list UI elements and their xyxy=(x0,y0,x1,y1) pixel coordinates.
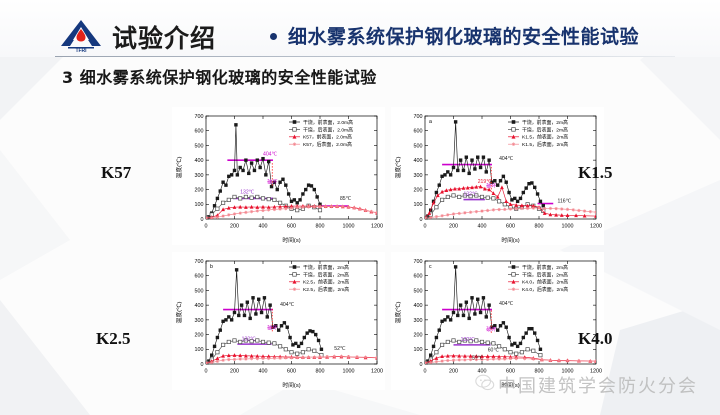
data-marker xyxy=(284,207,287,210)
data-marker xyxy=(435,351,438,354)
tfri-flame-logo-icon: TFRI xyxy=(58,18,104,52)
data-marker xyxy=(301,351,304,354)
data-marker xyxy=(293,142,297,146)
data-marker xyxy=(459,303,462,306)
data-marker xyxy=(502,175,505,178)
data-marker xyxy=(492,197,495,200)
data-marker xyxy=(456,314,459,317)
y-tick-label: 600 xyxy=(195,274,204,280)
data-marker xyxy=(261,340,264,343)
data-marker xyxy=(462,314,465,317)
data-marker xyxy=(233,358,236,361)
data-marker xyxy=(261,197,264,200)
data-marker xyxy=(512,273,516,277)
data-marker xyxy=(310,184,313,187)
data-marker xyxy=(263,296,266,299)
legend-label: K4.0，后表面，2m高 xyxy=(522,286,568,293)
data-marker xyxy=(540,358,543,361)
data-marker xyxy=(486,209,489,212)
data-marker xyxy=(473,312,476,315)
data-marker xyxy=(432,345,435,348)
data-marker xyxy=(522,191,525,194)
data-marker xyxy=(273,342,276,345)
data-marker xyxy=(297,345,300,348)
legend-label: K2.5，前表面，2m高 xyxy=(303,279,349,286)
chart-annotation: 破坏 xyxy=(267,324,277,331)
y-axis-label: 温度(℃) xyxy=(175,301,183,323)
data-marker xyxy=(509,357,512,360)
legend-label: 干烧，后表面，2.0m高 xyxy=(303,126,353,133)
data-marker xyxy=(244,195,247,198)
data-marker xyxy=(519,197,522,200)
data-marker xyxy=(239,357,242,360)
data-marker xyxy=(507,336,510,339)
data-marker xyxy=(288,336,291,339)
data-marker xyxy=(278,356,281,359)
data-marker xyxy=(526,207,529,210)
data-marker xyxy=(341,205,344,208)
data-marker xyxy=(549,359,552,362)
data-marker xyxy=(287,192,290,195)
data-marker xyxy=(286,326,289,329)
data-marker xyxy=(267,341,270,344)
data-marker xyxy=(505,326,508,329)
data-marker xyxy=(524,331,527,334)
data-marker xyxy=(340,355,343,358)
y-tick-label: 600 xyxy=(195,129,204,135)
x-tick-label: 200 xyxy=(449,224,458,230)
data-marker xyxy=(241,169,244,172)
chart-annotation: 132℃ xyxy=(461,337,475,343)
data-marker xyxy=(435,191,438,194)
data-marker xyxy=(296,206,299,209)
data-marker xyxy=(524,186,527,189)
data-marker xyxy=(278,181,281,184)
y-tick-label: 0 xyxy=(420,217,423,223)
data-marker xyxy=(486,341,489,344)
data-marker xyxy=(476,298,479,301)
y-tick-label: 300 xyxy=(195,318,204,324)
legend-label: K1.5，前表面，2m高 xyxy=(522,134,568,141)
data-marker xyxy=(480,340,483,343)
data-marker xyxy=(435,336,438,339)
data-marker xyxy=(533,186,536,189)
data-marker xyxy=(294,342,297,345)
data-marker xyxy=(539,353,542,356)
data-marker xyxy=(313,356,316,359)
x-tick-label: 800 xyxy=(535,224,544,230)
data-marker xyxy=(446,195,449,198)
data-marker xyxy=(497,200,500,203)
chart-annotation: 52℃ xyxy=(334,346,346,352)
data-marker xyxy=(301,356,304,359)
data-marker xyxy=(526,348,529,351)
chart-svg: 0200400600800100012000100200300400500600… xyxy=(172,107,385,245)
x-tick-label: 0 xyxy=(424,224,427,230)
chart-annotation: 132℃ xyxy=(463,191,477,197)
data-marker xyxy=(324,205,327,208)
data-marker xyxy=(325,355,328,358)
legend-label: 干烧，后表面，2m高 xyxy=(303,271,349,278)
legend-label: K57，后表面，2.0m高 xyxy=(303,141,352,148)
y-axis-label: 温度(℃) xyxy=(175,156,183,178)
data-marker xyxy=(452,194,455,197)
data-marker xyxy=(277,328,280,331)
data-marker xyxy=(443,173,446,176)
data-marker xyxy=(313,205,316,208)
data-marker xyxy=(512,128,516,132)
x-tick-label: 600 xyxy=(506,224,515,230)
data-marker xyxy=(507,191,510,194)
data-marker xyxy=(284,348,287,351)
data-marker xyxy=(473,167,476,170)
data-marker xyxy=(267,197,270,200)
x-tick-label: 200 xyxy=(230,224,239,230)
data-marker xyxy=(429,216,432,219)
y-tick-label: 400 xyxy=(414,158,423,164)
chart-annotation: 404℃ xyxy=(263,152,277,158)
x-axis-label: 时间(s) xyxy=(282,236,300,244)
data-marker xyxy=(497,357,500,360)
data-marker xyxy=(462,169,465,172)
y-tick-label: 300 xyxy=(414,318,423,324)
legend-label: 干烧，前表面，2m高 xyxy=(522,119,568,126)
x-tick-label: 0 xyxy=(205,224,208,230)
data-marker xyxy=(446,315,449,318)
y-tick-label: 0 xyxy=(201,362,204,368)
y-tick-label: 100 xyxy=(414,202,423,208)
data-marker xyxy=(284,183,287,186)
data-marker xyxy=(449,173,452,176)
data-marker xyxy=(532,349,535,352)
data-marker xyxy=(492,342,495,345)
data-marker xyxy=(440,359,443,362)
data-marker xyxy=(440,198,443,201)
data-marker xyxy=(280,324,283,327)
chart-svg: 0200400600800100012000100200300400500600… xyxy=(172,252,385,390)
data-marker xyxy=(256,158,259,161)
page-title: 试验介绍 xyxy=(112,19,216,55)
data-marker xyxy=(470,296,473,299)
data-marker xyxy=(458,195,461,198)
data-marker xyxy=(253,169,256,172)
data-marker xyxy=(513,197,516,200)
data-marker xyxy=(273,356,276,359)
data-marker xyxy=(318,208,321,211)
chart-annotation: 404℃ xyxy=(499,301,513,307)
data-marker xyxy=(233,169,236,172)
data-marker xyxy=(479,166,482,169)
data-marker xyxy=(243,314,246,317)
data-marker xyxy=(505,181,508,184)
y-tick-label: 700 xyxy=(195,114,204,120)
y-tick-label: 700 xyxy=(195,259,204,265)
data-marker xyxy=(216,207,219,210)
data-marker xyxy=(503,348,506,351)
data-marker xyxy=(234,123,237,126)
chart-panel-k40: 0200400600800100012000100200300400500600… xyxy=(391,252,604,390)
y-tick-label: 700 xyxy=(414,114,423,120)
data-marker xyxy=(465,156,468,159)
data-marker xyxy=(530,327,533,330)
data-marker xyxy=(438,328,441,331)
data-marker xyxy=(539,200,542,203)
data-marker xyxy=(333,355,336,358)
x-tick-label: 400 xyxy=(259,224,268,230)
data-marker xyxy=(446,359,449,362)
data-marker xyxy=(301,192,304,195)
data-marker xyxy=(267,160,270,163)
data-marker xyxy=(224,318,227,321)
chart-annotation: 85℃ xyxy=(340,196,352,202)
data-marker xyxy=(493,179,496,182)
data-marker xyxy=(470,158,473,161)
side-label-k40: K4.0 xyxy=(578,329,612,349)
x-tick-label: 1200 xyxy=(371,224,383,230)
data-marker xyxy=(449,318,452,321)
data-marker xyxy=(566,359,569,362)
y-tick-label: 200 xyxy=(414,332,423,338)
data-marker xyxy=(296,356,299,359)
data-marker xyxy=(267,357,270,360)
data-marker xyxy=(583,209,586,212)
data-marker xyxy=(520,207,523,210)
data-marker xyxy=(429,353,432,356)
data-marker xyxy=(320,348,323,351)
data-marker xyxy=(293,198,296,201)
legend-label: K2.5，后表面，2m高 xyxy=(303,286,349,293)
x-tick-label: 1200 xyxy=(371,369,383,375)
legend-label: 干烧，前表面，2m高 xyxy=(303,264,349,271)
data-marker xyxy=(452,166,455,169)
chart-panel-k25: 0200400600800100012000100200300400500600… xyxy=(172,252,385,390)
side-label-k15: K1.5 xyxy=(578,163,612,183)
data-marker xyxy=(347,355,350,358)
data-marker xyxy=(438,183,441,186)
data-marker xyxy=(577,359,580,362)
data-marker xyxy=(554,207,557,210)
data-marker xyxy=(492,357,495,360)
data-marker xyxy=(482,156,485,159)
chart-annotation: 破坏 xyxy=(486,182,496,189)
y-tick-label: 400 xyxy=(414,303,423,309)
y-tick-label: 500 xyxy=(414,288,423,294)
data-marker xyxy=(519,342,522,345)
data-marker xyxy=(266,315,269,318)
x-tick-label: 0 xyxy=(424,369,427,375)
data-marker xyxy=(221,181,224,184)
chart-svg: 0200400600800100012000100200300400500600… xyxy=(391,252,604,390)
data-marker xyxy=(293,120,297,124)
data-marker xyxy=(239,166,242,169)
data-marker xyxy=(237,314,240,317)
data-marker xyxy=(293,273,297,277)
y-tick-label: 600 xyxy=(414,274,423,280)
data-marker xyxy=(485,315,488,318)
data-marker xyxy=(254,312,257,315)
y-tick-label: 100 xyxy=(195,202,204,208)
data-marker xyxy=(429,361,432,364)
data-marker xyxy=(496,328,499,331)
chart-annotation: 破坏 xyxy=(267,179,277,186)
y-tick-label: 400 xyxy=(195,303,204,309)
data-marker xyxy=(523,357,526,360)
y-tick-label: 200 xyxy=(195,187,204,193)
data-marker xyxy=(273,198,276,201)
y-tick-label: 200 xyxy=(195,332,204,338)
data-marker xyxy=(260,311,263,314)
side-label-k25: K2.5 xyxy=(96,329,130,349)
data-marker xyxy=(221,343,224,346)
x-tick-label: 800 xyxy=(316,369,325,375)
data-marker xyxy=(293,128,297,132)
data-marker xyxy=(454,265,457,268)
data-marker xyxy=(549,207,552,210)
data-marker xyxy=(256,195,259,198)
data-marker xyxy=(513,342,516,345)
data-marker xyxy=(536,339,539,342)
data-marker xyxy=(317,339,320,342)
data-marker xyxy=(440,343,443,346)
data-marker xyxy=(273,208,276,211)
data-marker xyxy=(257,298,260,301)
chart-svg: 0200400600800100012000100200300400500600… xyxy=(391,107,604,245)
data-marker xyxy=(486,196,489,199)
data-marker xyxy=(536,192,539,195)
data-marker xyxy=(251,296,254,299)
data-marker xyxy=(221,201,224,204)
data-marker xyxy=(499,179,502,182)
data-marker xyxy=(539,348,542,351)
header-divider xyxy=(55,56,675,57)
y-tick-label: 0 xyxy=(201,217,204,223)
x-tick-label: 800 xyxy=(316,224,325,230)
data-marker xyxy=(256,209,259,212)
data-marker xyxy=(268,303,271,306)
data-marker xyxy=(487,303,490,306)
chart-panel-k15: 0200400600800100012000100200300400500600… xyxy=(391,107,604,245)
data-marker xyxy=(533,331,536,334)
data-marker xyxy=(307,356,310,359)
data-marker xyxy=(446,340,449,343)
data-marker xyxy=(458,358,461,361)
data-marker xyxy=(487,158,490,161)
legend-label: 干烧，后表面，2m高 xyxy=(522,271,568,278)
data-marker xyxy=(499,324,502,327)
data-marker xyxy=(577,209,580,212)
y-tick-label: 300 xyxy=(195,173,204,179)
legend-label: K1.5，后表面，2m高 xyxy=(522,141,568,148)
data-marker xyxy=(216,336,219,339)
data-marker xyxy=(435,206,438,209)
side-label-k57: K57 xyxy=(101,163,131,183)
data-marker xyxy=(364,209,367,212)
legend-label: 干烧，后表面，2m高 xyxy=(522,126,568,133)
data-marker xyxy=(454,120,457,123)
data-marker xyxy=(304,188,307,191)
data-marker xyxy=(307,348,310,351)
data-marker xyxy=(475,339,478,342)
data-marker xyxy=(233,339,236,342)
x-tick-label: 200 xyxy=(449,369,458,375)
data-marker xyxy=(227,315,230,318)
data-marker xyxy=(256,357,259,360)
y-tick-label: 500 xyxy=(195,143,204,149)
data-marker xyxy=(313,188,316,191)
chart-annotation: 404℃ xyxy=(280,302,294,308)
data-marker xyxy=(496,183,499,186)
watermark-text: 中国建筑学会防火分会 xyxy=(498,372,698,398)
data-marker xyxy=(520,351,523,354)
data-marker xyxy=(443,318,446,321)
y-tick-label: 500 xyxy=(195,288,204,294)
data-marker xyxy=(485,170,488,173)
data-marker xyxy=(224,183,227,186)
y-tick-label: 300 xyxy=(414,173,423,179)
x-tick-label: 600 xyxy=(287,224,296,230)
data-marker xyxy=(509,351,512,354)
legend-label: K4.0，前表面，2m高 xyxy=(522,279,568,286)
data-marker xyxy=(278,345,281,348)
y-tick-label: 500 xyxy=(414,143,423,149)
data-marker xyxy=(467,172,470,175)
x-tick-label: 1000 xyxy=(343,369,355,375)
panel-letter: a xyxy=(429,119,432,125)
data-marker xyxy=(233,311,236,314)
data-marker xyxy=(303,336,306,339)
data-marker xyxy=(516,200,519,203)
y-axis-label: 温度(℃) xyxy=(394,301,402,323)
svg-text:TFRI: TFRI xyxy=(75,48,87,52)
data-marker xyxy=(261,209,264,212)
data-marker xyxy=(314,333,317,336)
data-marker xyxy=(459,158,462,161)
data-marker xyxy=(240,303,243,306)
data-marker xyxy=(281,178,284,181)
data-marker xyxy=(479,311,482,314)
data-marker xyxy=(355,355,358,358)
chart-annotation: 60℃ xyxy=(488,347,500,353)
data-marker xyxy=(247,172,250,175)
x-tick-label: 600 xyxy=(287,369,296,375)
data-marker xyxy=(236,173,239,176)
data-marker xyxy=(512,120,516,124)
data-marker xyxy=(296,352,299,355)
chart-annotation: 132℃ xyxy=(242,336,256,342)
data-marker xyxy=(503,357,506,360)
data-marker xyxy=(293,265,297,269)
data-marker xyxy=(227,198,230,201)
data-marker xyxy=(364,356,367,359)
data-marker xyxy=(446,170,449,173)
data-marker xyxy=(370,210,373,213)
data-marker xyxy=(353,206,356,209)
y-tick-label: 100 xyxy=(414,347,423,353)
panel-letter: b xyxy=(210,264,213,270)
y-tick-label: 400 xyxy=(195,158,204,164)
data-marker xyxy=(210,353,213,356)
data-marker xyxy=(258,166,261,169)
data-marker xyxy=(227,358,230,361)
data-marker xyxy=(221,358,224,361)
x-tick-label: 200 xyxy=(230,369,239,375)
chart-panel-k57: 0200400600800100012000100200300400500600… xyxy=(172,107,385,245)
data-marker xyxy=(503,203,506,206)
wechat-icon xyxy=(474,372,496,394)
data-marker xyxy=(512,265,516,269)
data-marker xyxy=(482,296,485,299)
chart-annotation: 破坏 xyxy=(486,326,496,333)
